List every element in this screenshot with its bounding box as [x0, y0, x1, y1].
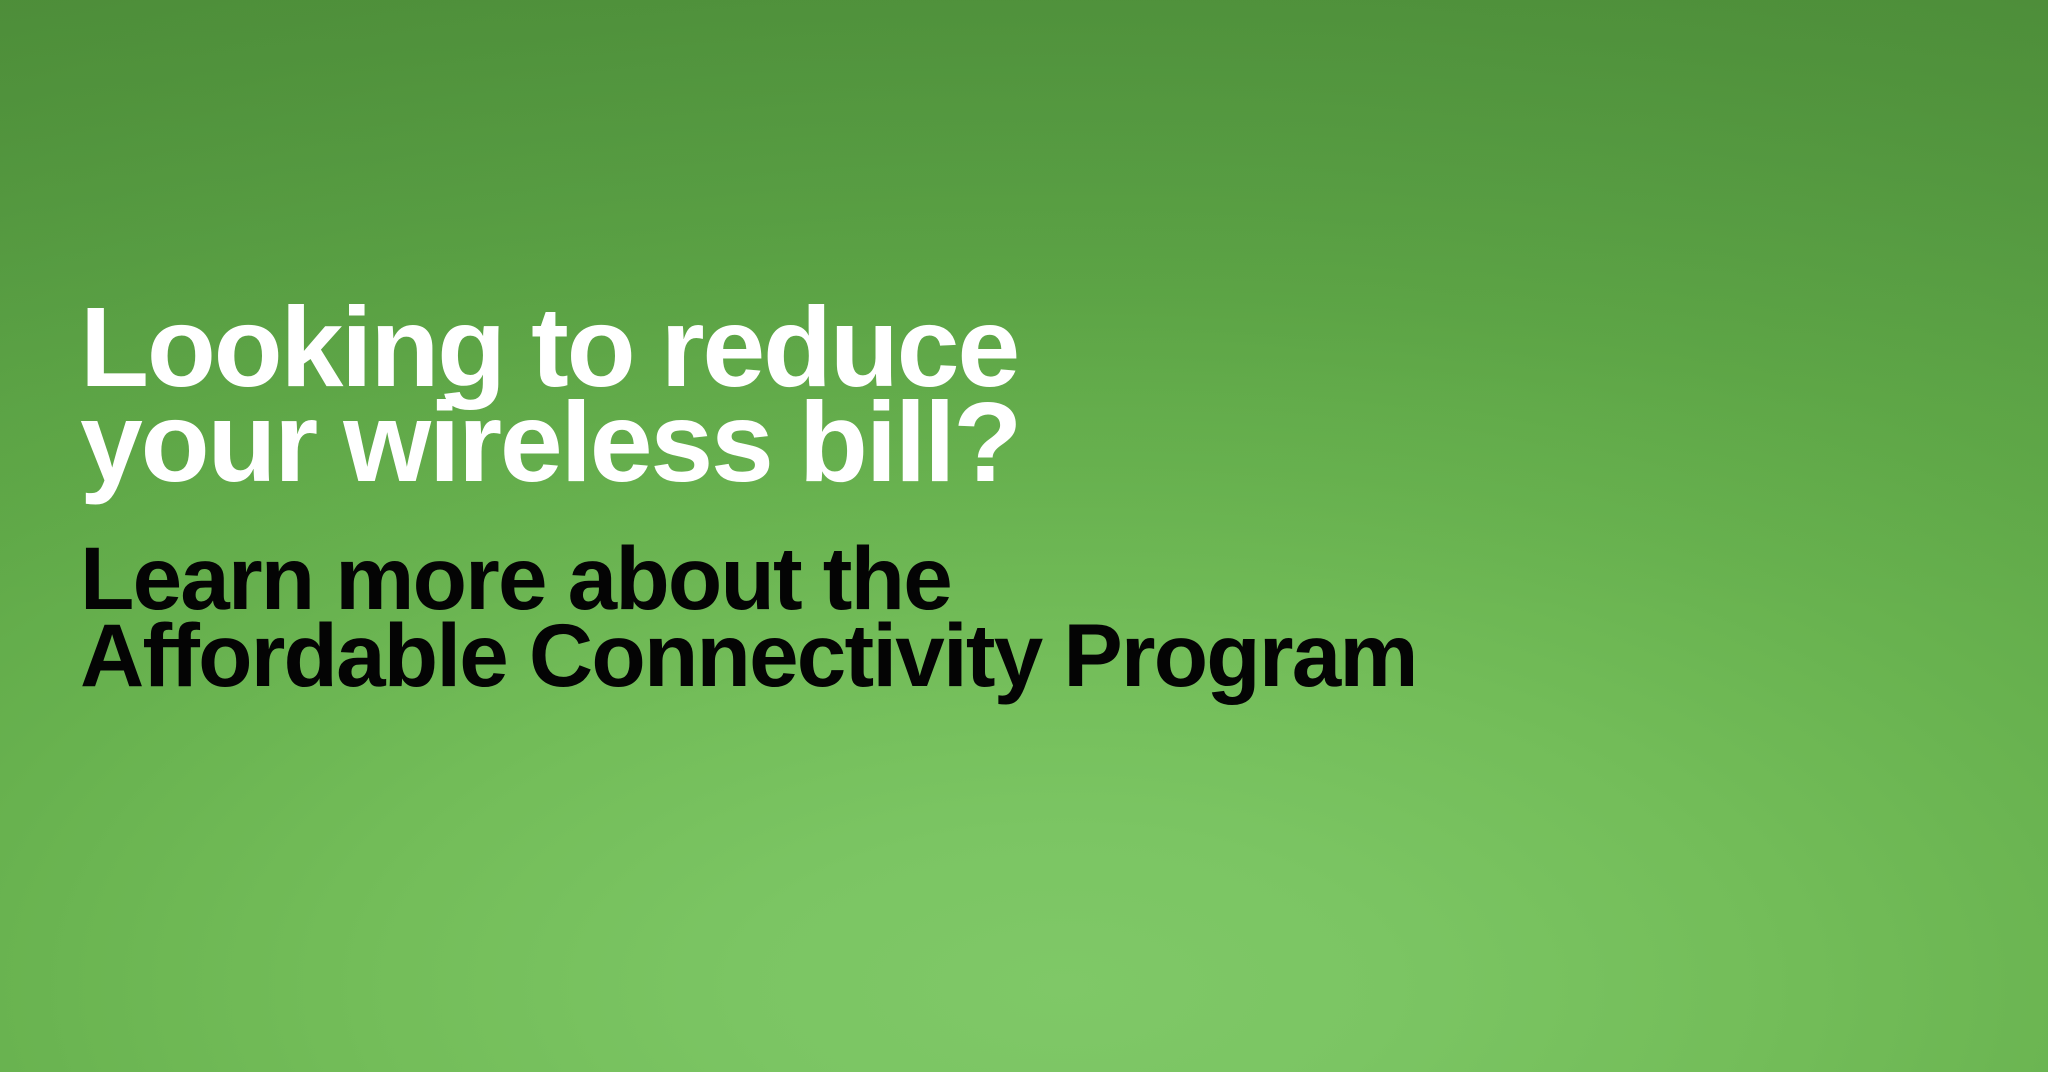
- headline-line-2: your wireless bill?: [80, 395, 1780, 490]
- subheadline-line-2: Affordable Connectivity Program: [80, 617, 1780, 694]
- banner-subheadline: Learn more about the Affordable Connecti…: [80, 490, 1780, 694]
- banner-headline: Looking to reduce your wireless bill?: [80, 300, 1780, 490]
- promo-banner: Looking to reduce your wireless bill? Le…: [0, 0, 2048, 1072]
- banner-text-stack: Looking to reduce your wireless bill? Le…: [80, 300, 1780, 694]
